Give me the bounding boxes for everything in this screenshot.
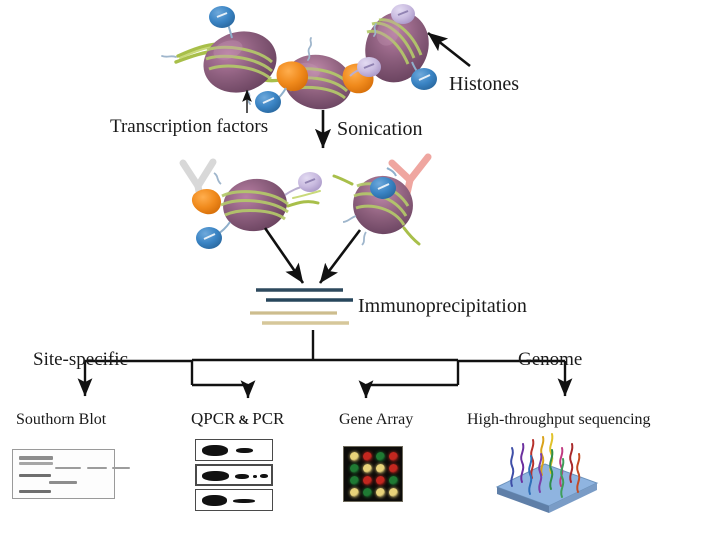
gene-array-spot <box>376 488 385 497</box>
gene-array-spot <box>350 488 359 497</box>
gel-band <box>202 445 228 456</box>
gel-panel-1 <box>195 439 273 461</box>
southern-blot-panel <box>12 449 115 499</box>
gene-array-spot <box>350 476 359 485</box>
gel-panel-3 <box>195 489 273 511</box>
southern-blot-band <box>55 467 81 469</box>
sonicated-nucleosome-right <box>334 157 428 245</box>
southern-blot-band <box>19 490 51 493</box>
gel-panel-2 <box>195 464 273 486</box>
gel-band <box>202 495 227 506</box>
southern-blot-band <box>112 467 130 469</box>
gel-band <box>235 474 249 479</box>
southern-blot-band <box>49 481 77 484</box>
label-sonication: Sonication <box>337 119 423 139</box>
label-transcription-factors: Transcription factors <box>110 117 268 136</box>
label-ampersand: & <box>235 412 252 427</box>
gel-band <box>253 475 257 478</box>
label-qpcr: QPCR <box>191 409 235 428</box>
label-qpcr-pcr: QPCR&PCR <box>191 410 284 427</box>
gene-array-spot <box>389 452 398 461</box>
gene-array-spot <box>363 476 372 485</box>
nucleosome-1 <box>196 23 284 101</box>
gel-band <box>233 499 255 503</box>
gene-array-spot <box>376 476 385 485</box>
sequencing-chip-illustration <box>497 434 597 513</box>
gene-array-spot <box>376 452 385 461</box>
gene-array-spot <box>363 464 372 473</box>
label-genome: Genome <box>518 350 582 369</box>
histones-arrow <box>428 33 470 66</box>
label-gene-array: Gene Array <box>339 412 413 428</box>
histone-tag-2 <box>255 88 286 113</box>
dna-fragment-lines <box>250 290 353 323</box>
gene-array-spot <box>389 476 398 485</box>
gene-array-spot <box>350 452 359 461</box>
southern-blot-band <box>87 467 107 469</box>
gene-array-spot <box>363 452 372 461</box>
branch-arrows <box>85 361 565 398</box>
antibody-gray <box>183 162 213 186</box>
label-southern-blot: Southorn Blot <box>16 412 106 428</box>
southern-blot-band <box>19 462 53 465</box>
southern-blot-band <box>19 456 53 460</box>
transcription-factor-1 <box>277 61 309 91</box>
gene-array-panel <box>343 446 403 502</box>
label-site-specific: Site-specific <box>33 350 128 369</box>
gene-array-spot <box>363 488 372 497</box>
label-pcr: PCR <box>252 409 284 428</box>
gene-array-spot <box>376 464 385 473</box>
branch-tree <box>192 330 458 385</box>
histone-tag-4 <box>391 4 415 24</box>
chip-workflow-diagram: Histones Transcription factors Sonicatio… <box>0 0 705 551</box>
label-immunoprecipitation: Immunoprecipitation <box>358 296 527 316</box>
histone-tag-1 <box>209 6 235 38</box>
gel-band <box>202 471 229 481</box>
label-histones: Histones <box>449 74 519 94</box>
ip-arrow-left <box>265 228 303 283</box>
gel-band <box>236 448 253 453</box>
gene-array-spot <box>389 488 398 497</box>
histone-tag-5 <box>411 62 437 90</box>
gene-array-spot <box>350 464 359 473</box>
sonicated-nucleosome-left <box>183 162 322 249</box>
southern-blot-band <box>19 474 51 477</box>
ip-arrow-right <box>320 230 360 283</box>
gene-array-spot <box>389 464 398 473</box>
gel-band <box>260 474 268 478</box>
label-high-throughput-sequencing: High-throughput sequencing <box>467 412 651 428</box>
